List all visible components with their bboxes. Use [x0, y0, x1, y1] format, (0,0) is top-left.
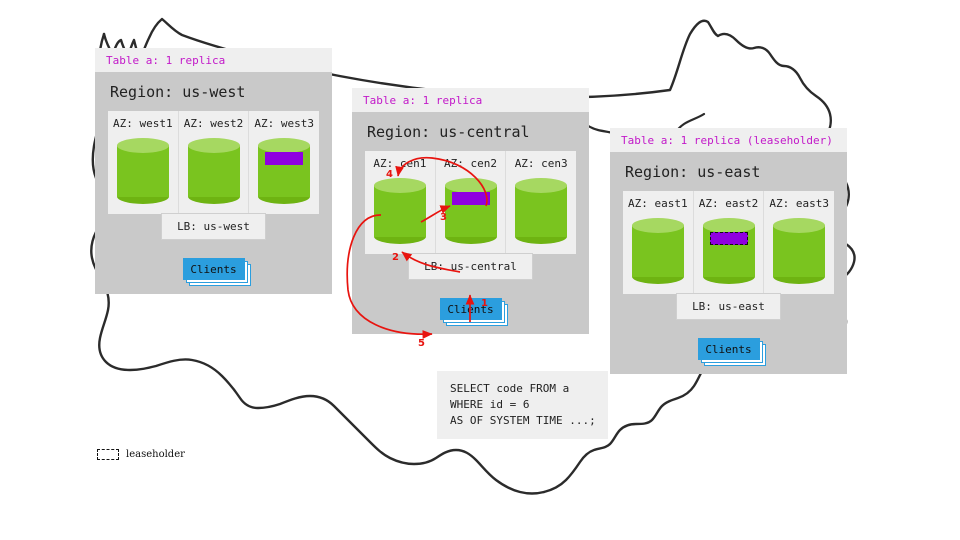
az-west2[interactable]: AZ: west2: [179, 111, 250, 214]
load-balancer-us-east[interactable]: LB: us-east: [676, 293, 781, 320]
clients-stack-us-central[interactable]: Clients: [440, 298, 502, 320]
node-cylinder-icon: [632, 218, 684, 284]
node-cylinder-icon: [374, 178, 426, 244]
region-title-us-west: Region: us-west: [108, 72, 319, 111]
region-body-us-west: Region: us-west AZ: west1 AZ: west2 AZ: …: [95, 72, 332, 294]
az-row-us-west: AZ: west1 AZ: west2 AZ: west3: [108, 111, 319, 214]
sql-statement-box: SELECT code FROM a WHERE id = 6 AS OF SY…: [437, 371, 608, 439]
az-label: AZ: west1: [113, 118, 173, 129]
region-banner-us-west: Table a: 1 replica: [95, 48, 332, 72]
clients-label: Clients: [440, 298, 502, 320]
az-west1[interactable]: AZ: west1: [108, 111, 179, 214]
replica-marker-leaseholder: [710, 232, 748, 245]
node-cylinder-icon: [515, 178, 567, 244]
az-label: AZ: east2: [699, 198, 759, 209]
lb-wrap: LB: us-west: [108, 213, 319, 240]
node-cylinder-icon: [445, 178, 497, 244]
node-cylinder-icon: [773, 218, 825, 284]
lb-wrap: LB: us-east: [623, 293, 834, 320]
node-cylinder-icon: [117, 138, 169, 204]
az-west3[interactable]: AZ: west3: [249, 111, 319, 214]
clients-stack-us-west[interactable]: Clients: [183, 258, 245, 280]
clients-wrap: Clients: [365, 298, 576, 320]
region-card-us-central: Table a: 1 replica Region: us-central AZ…: [352, 88, 589, 334]
arrow-label-2: 2: [392, 252, 399, 263]
az-east1[interactable]: AZ: east1: [623, 191, 694, 294]
az-row-us-east: AZ: east1 AZ: east2 AZ: east3: [623, 191, 834, 294]
region-banner-us-central: Table a: 1 replica: [352, 88, 589, 112]
clients-label: Clients: [183, 258, 245, 280]
legend-leaseholder: leaseholder: [97, 449, 185, 460]
load-balancer-us-west[interactable]: LB: us-west: [161, 213, 266, 240]
az-east2[interactable]: AZ: east2: [694, 191, 765, 294]
az-row-us-central: AZ: cen1 AZ: cen2 AZ: cen3: [365, 151, 576, 254]
region-card-us-east: Table a: 1 replica (leaseholder) Region:…: [610, 128, 847, 374]
az-east3[interactable]: AZ: east3: [764, 191, 834, 294]
node-cylinder-icon: [258, 138, 310, 204]
replica-marker: [265, 152, 303, 165]
region-banner-us-east: Table a: 1 replica (leaseholder): [610, 128, 847, 152]
arrow-label-4: 4: [386, 169, 393, 180]
arrow-label-1: 1: [481, 298, 488, 309]
region-title-us-east: Region: us-east: [623, 152, 834, 191]
node-cylinder-icon: [188, 138, 240, 204]
dashed-rect-icon: [97, 449, 119, 460]
node-cylinder-icon: [703, 218, 755, 284]
az-cen2[interactable]: AZ: cen2: [436, 151, 507, 254]
load-balancer-us-central[interactable]: LB: us-central: [408, 253, 533, 280]
az-label: AZ: east1: [628, 198, 688, 209]
replica-marker: [452, 192, 490, 205]
clients-wrap: Clients: [623, 338, 834, 360]
arrow-label-3: 3: [440, 212, 447, 223]
legend-label: leaseholder: [126, 449, 185, 460]
clients-stack-us-east[interactable]: Clients: [698, 338, 760, 360]
clients-label: Clients: [698, 338, 760, 360]
az-label: AZ: west3: [254, 118, 314, 129]
az-cen1[interactable]: AZ: cen1: [365, 151, 436, 254]
arrow-label-5: 5: [418, 338, 425, 349]
az-label: AZ: west2: [184, 118, 244, 129]
diagram-stage: Table a: 1 replica Region: us-west AZ: w…: [0, 0, 960, 540]
az-label: AZ: cen3: [515, 158, 568, 169]
region-body-us-central: Region: us-central AZ: cen1 AZ: cen2: [352, 112, 589, 334]
az-label: AZ: cen1: [373, 158, 426, 169]
region-title-us-central: Region: us-central: [365, 112, 576, 151]
az-label: AZ: east3: [769, 198, 829, 209]
az-cen3[interactable]: AZ: cen3: [506, 151, 576, 254]
region-body-us-east: Region: us-east AZ: east1 AZ: east2: [610, 152, 847, 374]
region-card-us-west: Table a: 1 replica Region: us-west AZ: w…: [95, 48, 332, 294]
clients-wrap: Clients: [108, 258, 319, 280]
az-label: AZ: cen2: [444, 158, 497, 169]
